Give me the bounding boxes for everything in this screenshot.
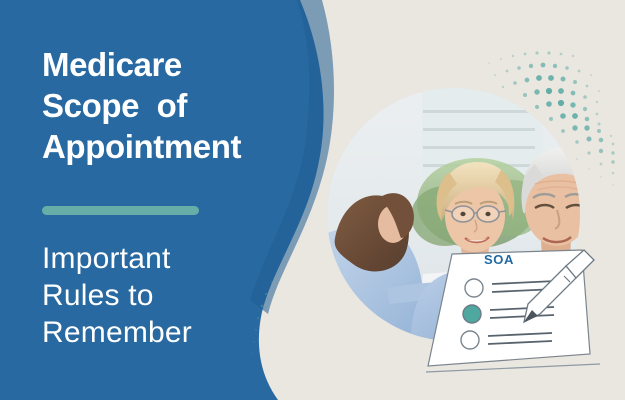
headline-line-2: Scope of <box>42 85 322 126</box>
subheadline-line-2: Rules to <box>42 277 302 314</box>
subheadline: Important Rules to Remember <box>42 240 302 351</box>
soa-option-1-radio <box>465 279 483 297</box>
headline-line-3: Appointment <box>42 126 322 167</box>
headline: Medicare Scope of Appointment <box>42 44 322 167</box>
soa-title: SOA <box>484 252 514 267</box>
soa-option-2-radio-selected <box>463 305 481 323</box>
soa-option-3-radio <box>461 331 479 349</box>
divider-bar <box>42 206 199 215</box>
soa-document-illustration: SOA <box>424 248 624 380</box>
headline-line-1: Medicare <box>42 44 322 85</box>
subheadline-line-3: Remember <box>42 314 302 351</box>
medicare-soa-banner: Medicare Scope of Appointment Important … <box>0 0 625 400</box>
subheadline-line-1: Important <box>42 240 302 277</box>
